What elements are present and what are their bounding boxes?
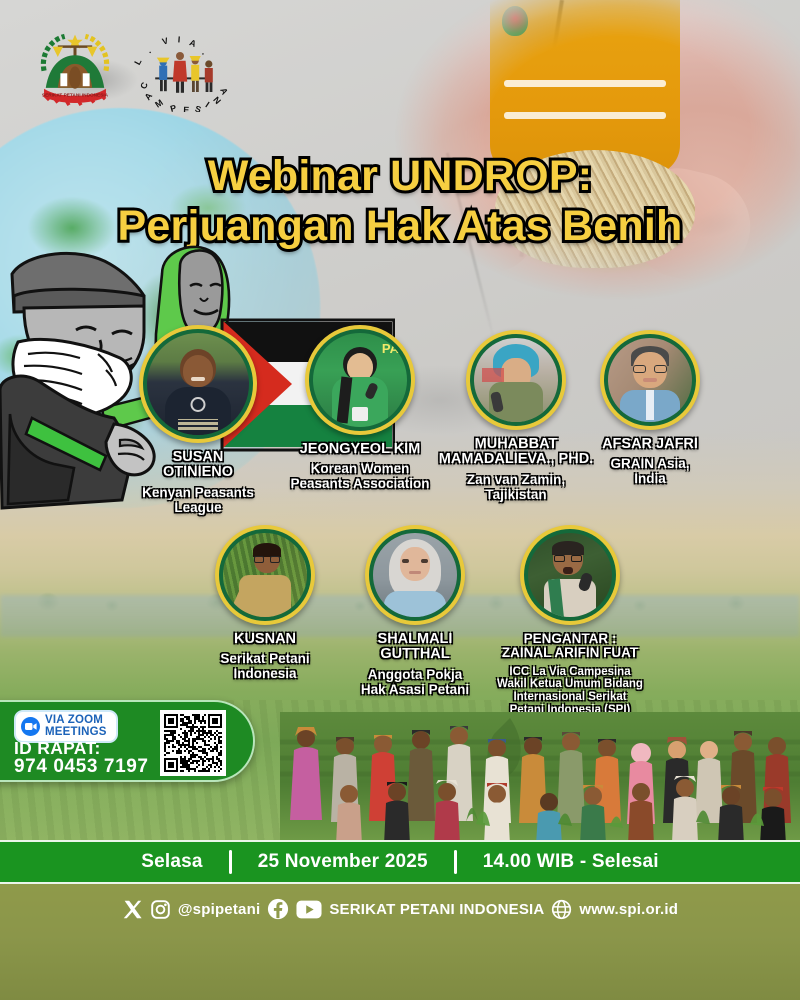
group-photo bbox=[280, 712, 800, 840]
speaker-card-susan-otinieno: SUSANOTINIENO Kenyan PeasantsLeague bbox=[118, 325, 278, 515]
svg-text:P: P bbox=[169, 103, 178, 112]
spi-logo: SERIKAT PETANI INDONESIA bbox=[32, 26, 118, 112]
youtube-channel[interactable]: SERIKAT PETANI INDONESIA bbox=[329, 901, 544, 918]
globe-icon bbox=[551, 899, 572, 920]
vest-emblem bbox=[502, 6, 528, 36]
qr-code[interactable] bbox=[160, 710, 226, 776]
avatar-ring: PA bbox=[305, 325, 415, 435]
speaker-card-afsar-jafri: AFSAR JAFRI GRAIN Asia,India bbox=[570, 330, 730, 487]
facebook-icon[interactable] bbox=[267, 898, 289, 920]
schedule-bar: Selasa 25 November 2025 14.00 WIB - Sele… bbox=[0, 840, 800, 884]
speaker-name: PENGANTAR :ZAINAL ARIFIN FUAT bbox=[470, 632, 670, 661]
speaker-photo bbox=[474, 338, 558, 422]
instagram-handle[interactable]: @spipetani bbox=[178, 901, 260, 918]
x-twitter-icon[interactable] bbox=[122, 899, 143, 920]
rice-in-hands-photo bbox=[395, 0, 800, 300]
speaker-organization: ICC La Via Campesina Wakil Ketua Umum Bi… bbox=[470, 666, 670, 718]
svg-text:SERIKAT PETANI INDONESIA: SERIKAT PETANI INDONESIA bbox=[42, 93, 109, 99]
speaker-organization: Serikat PetaniIndonesia bbox=[185, 652, 345, 682]
schedule-date: 25 November 2025 bbox=[232, 851, 454, 873]
speaker-card-kusnan: KUSNAN Serikat PetaniIndonesia bbox=[185, 525, 345, 682]
speaker-card-zainal-arifin-fuat: PENGANTAR :ZAINAL ARIFIN FUAT ICC La Via… bbox=[470, 525, 670, 717]
poster-title: Webinar UNDROP: Perjuangan Hak Atas Beni… bbox=[0, 155, 800, 248]
speaker-photo bbox=[528, 533, 612, 617]
svg-text:A: A bbox=[142, 90, 154, 102]
schedule-time: 14.00 WIB - Selesai bbox=[457, 851, 685, 873]
speaker-card-jeongyeol-kim: PA JEONGYEOL KIM Korean WomenPeasants As… bbox=[272, 325, 448, 492]
la-via-campesina-logo: L . V I A . C A M P E S I N A bbox=[128, 32, 240, 112]
avatar-ring bbox=[139, 325, 257, 443]
speaker-organization: Korean WomenPeasants Association bbox=[272, 462, 448, 492]
svg-text:.: . bbox=[200, 48, 209, 57]
avatar-ring bbox=[466, 330, 566, 430]
svg-text:A: A bbox=[188, 37, 198, 49]
svg-text:M: M bbox=[153, 97, 165, 109]
svg-text:I: I bbox=[177, 34, 180, 44]
meeting-id-number: 974 0453 7197 bbox=[14, 757, 149, 777]
svg-text:N: N bbox=[211, 95, 223, 106]
svg-text:L: L bbox=[132, 57, 144, 67]
avatar-ring bbox=[600, 330, 700, 430]
speaker-photo bbox=[223, 533, 307, 617]
avatar-ring bbox=[520, 525, 620, 625]
via-zoom-label: VIA ZOOMMEETINGS bbox=[45, 715, 107, 738]
speaker-photo bbox=[147, 333, 249, 435]
meeting-id-label: ID RAPAT: bbox=[14, 739, 101, 757]
webinar-poster: SERIKAT PETANI INDONESIA L . V I A . C A… bbox=[0, 0, 800, 1000]
svg-text:V: V bbox=[161, 35, 170, 46]
svg-text:S: S bbox=[194, 104, 203, 112]
orange-vest bbox=[490, 0, 680, 175]
svg-text:I: I bbox=[204, 100, 212, 110]
social-footer: @spipetani SERIKAT PETANI INDONESIA www.… bbox=[0, 884, 800, 1000]
avatar-ring bbox=[215, 525, 315, 625]
speaker-photo bbox=[373, 533, 457, 617]
zoom-meeting-panel: VIA ZOOMMEETINGS ID RAPAT: 974 0453 7197 bbox=[0, 700, 255, 782]
speaker-photo: PA bbox=[313, 333, 407, 427]
website-url[interactable]: www.spi.or.id bbox=[579, 901, 678, 918]
speaker-organization: GRAIN Asia,India bbox=[570, 457, 730, 487]
video-camera-icon bbox=[21, 717, 40, 736]
svg-text:.: . bbox=[144, 46, 152, 55]
instagram-icon[interactable] bbox=[150, 899, 171, 920]
speaker-name: SUSANOTINIENO bbox=[118, 450, 278, 481]
svg-text:C: C bbox=[138, 80, 150, 90]
speaker-photo bbox=[608, 338, 692, 422]
speaker-name: JEONGYEOL KIM bbox=[272, 442, 448, 457]
title-line-1: Webinar UNDROP: bbox=[0, 155, 800, 198]
speaker-name: AFSAR JAFRI bbox=[570, 437, 730, 452]
avatar-ring bbox=[365, 525, 465, 625]
speaker-organization: Kenyan PeasantsLeague bbox=[118, 486, 278, 516]
youtube-icon[interactable] bbox=[296, 900, 322, 919]
schedule-day: Selasa bbox=[115, 851, 228, 873]
speaker-name: KUSNAN bbox=[185, 632, 345, 647]
svg-text:E: E bbox=[183, 105, 189, 112]
